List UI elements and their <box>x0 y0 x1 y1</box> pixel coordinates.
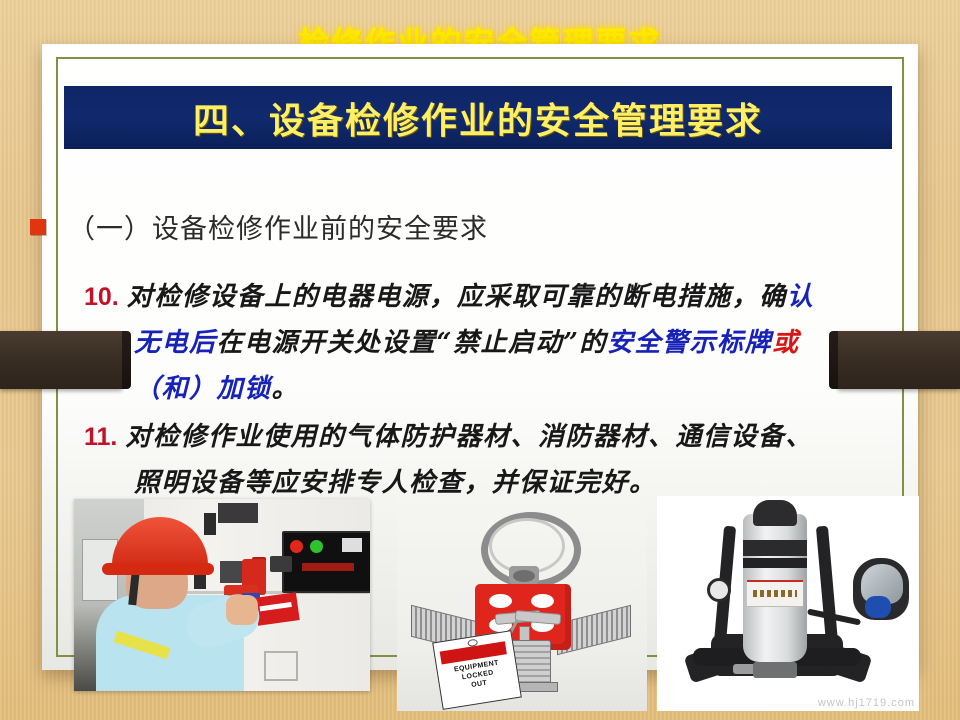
item-10-l2-seg-1: 无电后 <box>134 328 217 358</box>
item-10-l1-seg-2: 认 <box>787 282 815 312</box>
bullet-square-icon <box>30 219 46 235</box>
item-11-line-1: 11.对检修作业使用的气体防护器材、消防器材、通信设备、 <box>84 414 813 460</box>
photo1-switch-housing <box>270 556 292 572</box>
photo3-pressure-gauge <box>707 578 731 602</box>
item-10-l2-seg-2: 在电源开关处设置“禁止启动”的 <box>217 328 607 358</box>
content-panel: 四、设备检修作业的安全管理要求 （一）设备检修作业前的安全要求 10.对检修设备… <box>42 44 918 670</box>
item-11-l2-seg-1: 照明设备等应安排专人检查，并保证完好。 <box>134 468 657 498</box>
item-10-l2-seg-4: 或 <box>772 328 800 358</box>
item-10-line-2: 无电后在电源开关处设置“禁止启动”的安全警示标牌或 <box>84 320 814 366</box>
slide: 检修作业的安全管理要求 四、设备检修作业的安全管理要求 （一）设备检修作业前的安… <box>0 0 960 720</box>
photo3-cylinder-band-2 <box>743 558 807 568</box>
photo1-screen-bar <box>302 563 354 571</box>
image-row: EQUIPMENT LOCKED OUT <box>42 496 918 711</box>
photo3-cylinder-cap <box>753 500 797 526</box>
item-10-l3-seg-2: 。 <box>272 374 300 404</box>
photo2-hasp-hole-2 <box>531 594 554 608</box>
photo1-device-4 <box>218 503 258 523</box>
photo3-cylinder-valve <box>753 662 797 678</box>
item-10-number: 10. <box>84 283 119 311</box>
subtitle-text: （一）设备检修作业前的安全要求 <box>68 207 488 246</box>
photo1-hard-hat-brim <box>102 563 214 575</box>
ribbon-decoration-right <box>838 331 960 389</box>
page-title: 四、设备检修作业的安全管理要求 <box>193 92 763 144</box>
photo1-wall-socket <box>264 651 298 681</box>
photo1-warning-tag <box>254 592 299 626</box>
photo1-tag-stripe <box>259 602 291 611</box>
photo3-watermark: www.hj1719.com <box>818 697 915 709</box>
scba-breathing-apparatus-photo: www.hj1719.com <box>657 496 919 711</box>
photo1-worker-hand <box>226 595 258 625</box>
list-item-10: 10.对检修设备上的电器电源，应采取可靠的断电措施，确认 无电后在电源开关处设置… <box>84 274 814 412</box>
photo3-mask-regulator <box>865 596 891 618</box>
photo1-green-indicator <box>310 540 323 553</box>
subtitle-row: （一）设备检修作业前的安全要求 <box>30 207 488 246</box>
photo3-cylinder-label <box>747 580 803 607</box>
ribbon-decoration-left <box>0 331 122 389</box>
photo1-meter <box>342 538 362 552</box>
photo1-control-screen <box>282 531 370 593</box>
photo3-cylinder-band-1 <box>743 540 807 556</box>
title-bar: 四、设备检修作业的安全管理要求 <box>64 86 892 149</box>
photo1-device-1 <box>204 513 216 535</box>
item-10-l3-seg-1: （和）加锁 <box>134 374 272 404</box>
photo2-hasp-pivot <box>513 570 535 582</box>
item-11-l1-seg-1: 对检修作业使用的气体防护器材、消防器材、通信设备、 <box>125 422 813 452</box>
item-10-line-3: （和）加锁。 <box>84 366 814 412</box>
item-10-l1-seg-1: 对检修设备上的电器电源，应采取可靠的断电措施，确 <box>127 282 787 312</box>
photo2-lockout-tag: EQUIPMENT LOCKED OUT <box>432 630 522 710</box>
item-11-number: 11. <box>84 423 117 451</box>
worker-lockout-photo <box>74 499 370 691</box>
photo2-hasp-hole-1 <box>489 594 512 608</box>
photo3-shoulder-strap-right <box>816 526 838 645</box>
lockout-hasp-illustration: EQUIPMENT LOCKED OUT <box>397 496 647 711</box>
photo1-red-indicator <box>290 540 303 553</box>
list-item-11: 11.对检修作业使用的气体防护器材、消防器材、通信设备、 照明设备等应安排专人检… <box>84 414 813 506</box>
item-10-line-1: 10.对检修设备上的电器电源，应采取可靠的断电措施，确认 <box>84 274 814 320</box>
item-10-l2-seg-3: 安全警示标牌 <box>607 328 772 358</box>
